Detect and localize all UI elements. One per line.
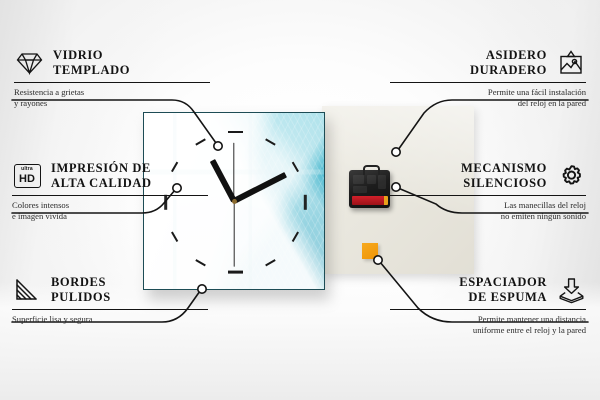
ultra-hd-icon: ultra HD xyxy=(12,161,42,191)
feature-header: BORDES PULIDOS xyxy=(12,275,208,305)
hand-center-cap xyxy=(232,199,237,204)
movement-detail xyxy=(353,186,367,193)
feature-divider xyxy=(12,309,208,310)
movement-detail xyxy=(367,175,376,184)
feature-header: ultra HD IMPRESIÓN DE ALTA CALIDAD xyxy=(12,161,208,191)
feature-divider xyxy=(390,309,586,310)
feature-description: Las manecillas del reloj no emiten ningú… xyxy=(390,200,586,221)
movement-detail xyxy=(378,175,386,189)
feature-vidrio-templado[interactable]: VIDRIO TEMPLADO Resistencia a grietas y … xyxy=(14,48,210,108)
feature-title: ASIDERO DURADERO xyxy=(470,48,547,78)
feature-asidero-duradero[interactable]: ASIDERO DURADERO Permite una fácil insta… xyxy=(390,48,586,108)
feature-mecanismo-silencioso[interactable]: MECANISMO SILENCIOSO Las manecillas del … xyxy=(390,161,586,221)
feature-title: ESPACIADOR DE ESPUMA xyxy=(459,275,547,305)
feature-description: Permite una fácil instalación del reloj … xyxy=(390,87,586,108)
feature-description: Superficie lisa y segura xyxy=(12,314,208,325)
feature-header: VIDRIO TEMPLADO xyxy=(14,48,210,78)
minute-hand xyxy=(233,172,287,204)
second-hand-tail xyxy=(233,143,234,201)
infographic-stage: VIDRIO TEMPLADO Resistencia a grietas y … xyxy=(0,0,600,400)
movement-detail xyxy=(353,175,364,184)
feature-title: VIDRIO TEMPLADO xyxy=(53,48,130,78)
polished-edges-icon xyxy=(12,275,42,305)
diamond-icon xyxy=(14,48,44,78)
feature-bordes-pulidos[interactable]: BORDES PULIDOS Superficie lisa y segura xyxy=(12,275,208,325)
feature-divider xyxy=(14,82,210,83)
feature-divider xyxy=(390,195,586,196)
gear-icon xyxy=(556,161,586,191)
feature-impresion-alta-calidad[interactable]: ultra HD IMPRESIÓN DE ALTA CALIDAD Color… xyxy=(12,161,208,221)
feature-description: Colores intensos e imagen vívida xyxy=(12,200,208,221)
feature-title: BORDES PULIDOS xyxy=(51,275,111,305)
second-hand xyxy=(233,201,234,267)
feature-title: MECANISMO SILENCIOSO xyxy=(461,161,547,191)
feature-header: ESPACIADOR DE ESPUMA xyxy=(390,275,586,305)
foam-spacer-arrow-icon xyxy=(556,275,586,305)
feature-header: ASIDERO DURADERO xyxy=(390,48,586,78)
feature-title: IMPRESIÓN DE ALTA CALIDAD xyxy=(51,161,152,191)
ultra-hd-icon-large-text: HD xyxy=(15,173,40,185)
ultra-hd-icon-small-text: ultra xyxy=(15,167,40,172)
feature-espaciador-de-espuma[interactable]: ESPACIADOR DE ESPUMA Permite mantener un… xyxy=(390,275,586,335)
movement-battery xyxy=(352,196,386,205)
feature-header: MECANISMO SILENCIOSO xyxy=(390,161,586,191)
hanging-frame-icon xyxy=(556,48,586,78)
movement-hanger-icon xyxy=(363,165,380,175)
feature-description: Permite mantener una distancia uniforme … xyxy=(390,314,586,335)
movement-battery-terminal xyxy=(384,196,388,205)
clock-movement-box xyxy=(349,170,390,208)
feature-divider xyxy=(12,195,208,196)
feature-description: Resistencia a grietas y rayones xyxy=(14,87,210,108)
foam-spacer-part xyxy=(362,243,378,259)
feature-divider xyxy=(390,82,586,83)
